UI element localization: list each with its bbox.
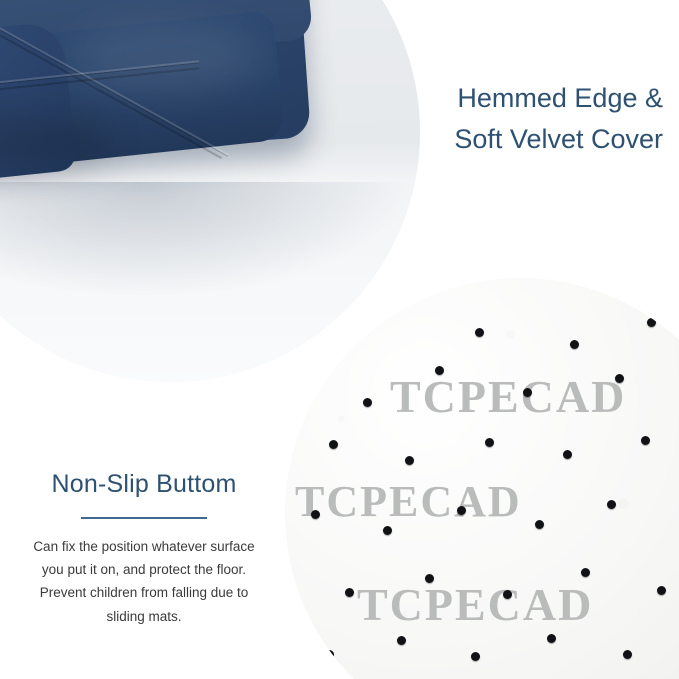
nonslip-dot [325, 650, 334, 659]
nonslip-dot [425, 574, 434, 583]
nonslip-dot [503, 590, 512, 599]
nonslip-dot [607, 500, 616, 509]
body-line-3: Prevent children from falling due to [10, 581, 278, 604]
nonslip-dot [329, 440, 338, 449]
velvet-sheen-mid [70, 22, 260, 92]
nonslip-dot [363, 398, 372, 407]
nonslip-dot [570, 340, 579, 349]
nonslip-dot [547, 634, 556, 643]
nonslip-dot [311, 510, 320, 519]
brand-watermark-1: TCPECAD [390, 370, 626, 423]
nonslip-dot [457, 506, 466, 515]
nonslip-dot [405, 456, 414, 465]
nonslip-dot [581, 568, 590, 577]
nonslip-dot [471, 652, 480, 661]
body-line-2: you put it on, and protect the floor. [10, 558, 278, 581]
nonslip-dot [435, 366, 444, 375]
brand-watermark-2: TCPECAD [295, 476, 522, 527]
nonslip-dot [397, 636, 406, 645]
nonslip-dot [523, 388, 532, 397]
headline-line-2: Soft Velvet Cover [333, 119, 663, 160]
nonslip-dot [383, 526, 392, 535]
nonslip-dot [535, 520, 544, 529]
nonslip-dot [623, 650, 632, 659]
non-slip-bottom-photo: TCPECAD TCPECAD TCPECAD [285, 278, 679, 679]
brand-watermark-3: TCPECAD [357, 578, 593, 631]
body-line-1: Can fix the position whatever surface [10, 535, 278, 558]
nonslip-dot [485, 438, 494, 447]
nonslip-dot [641, 436, 650, 445]
nonslip-dot [647, 318, 656, 327]
hemmed-edge-headline: Hemmed Edge & Soft Velvet Cover [333, 78, 663, 160]
body-line-4: sliding mats. [10, 605, 278, 628]
title-divider [81, 517, 207, 519]
nonslip-dot [345, 588, 354, 597]
non-slip-body-copy: Can fix the position whatever surface yo… [10, 535, 278, 628]
headline-line-1: Hemmed Edge & [333, 78, 663, 119]
nonslip-dot [563, 450, 572, 459]
non-slip-text-block: Non-Slip Buttom Can fix the position wha… [10, 470, 278, 628]
product-feature-infographic: Hemmed Edge & Soft Velvet Cover TCPECAD … [0, 0, 679, 679]
nonslip-dot [657, 586, 666, 595]
non-slip-title: Non-Slip Buttom [10, 470, 278, 499]
nonslip-dot [475, 328, 484, 337]
nonslip-dot [615, 374, 624, 383]
